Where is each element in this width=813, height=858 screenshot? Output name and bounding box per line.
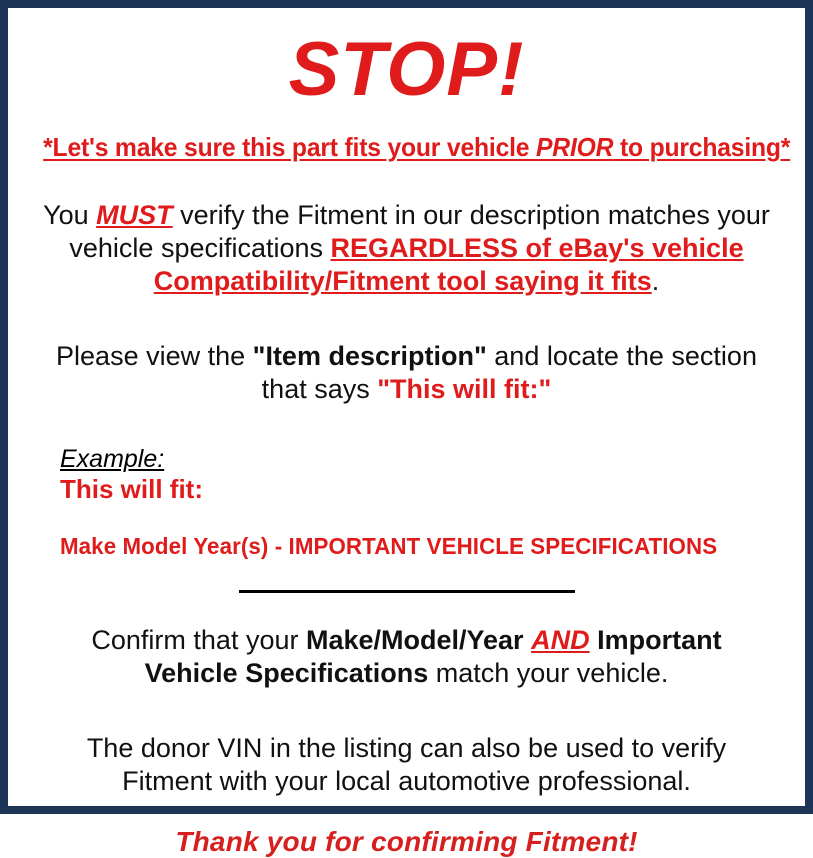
subheading-banner: *Let's make sure this part fits your veh… xyxy=(43,132,770,163)
emphasis-and: AND xyxy=(531,625,590,655)
horizontal-divider xyxy=(239,590,575,593)
confirm-text-3: match your vehicle. xyxy=(428,658,668,688)
notice-content: STOP! *Let's make sure this part fits yo… xyxy=(8,8,805,806)
example-specification-line: Make Model Year(s) - IMPORTANT VEHICLE S… xyxy=(60,533,767,560)
example-block: Example: This will fit: Make Model Year(… xyxy=(24,446,789,560)
itemdesc-text-1: Please view the xyxy=(56,341,253,371)
emphasis-this-will-fit: "This will fit:" xyxy=(377,374,551,404)
emphasis-make-model-year: Make/Model/Year xyxy=(306,625,531,655)
thank-you-message: Thank you for confirming Fitment! xyxy=(24,826,789,858)
subheading-text-pre: *Let's make sure this part fits your veh… xyxy=(43,132,536,162)
must-text-3: . xyxy=(652,266,660,296)
fitment-notice-card: STOP! *Let's make sure this part fits yo… xyxy=(0,0,813,814)
must-text-1: You xyxy=(43,200,96,230)
emphasis-must: MUST xyxy=(96,200,173,230)
paragraph-item-description: Please view the "Item description" and l… xyxy=(24,340,789,406)
paragraph-confirm: Confirm that your Make/Model/Year AND Im… xyxy=(24,624,789,690)
paragraph-must-verify: You MUST verify the Fitment in our descr… xyxy=(24,199,789,298)
confirm-text-2 xyxy=(590,625,598,655)
example-fit-heading: This will fit: xyxy=(60,475,789,505)
example-label: Example: xyxy=(60,446,789,474)
confirm-text-1: Confirm that your xyxy=(91,625,306,655)
page-title: STOP! xyxy=(24,32,789,108)
paragraph-donor-vin: The donor VIN in the listing can also be… xyxy=(24,732,789,798)
subheading-text-post: to purchasing* xyxy=(613,132,790,162)
subheading-emphasis-prior: PRIOR xyxy=(536,132,613,162)
divider-wrapper xyxy=(24,590,789,604)
emphasis-item-description: "Item description" xyxy=(253,341,487,371)
